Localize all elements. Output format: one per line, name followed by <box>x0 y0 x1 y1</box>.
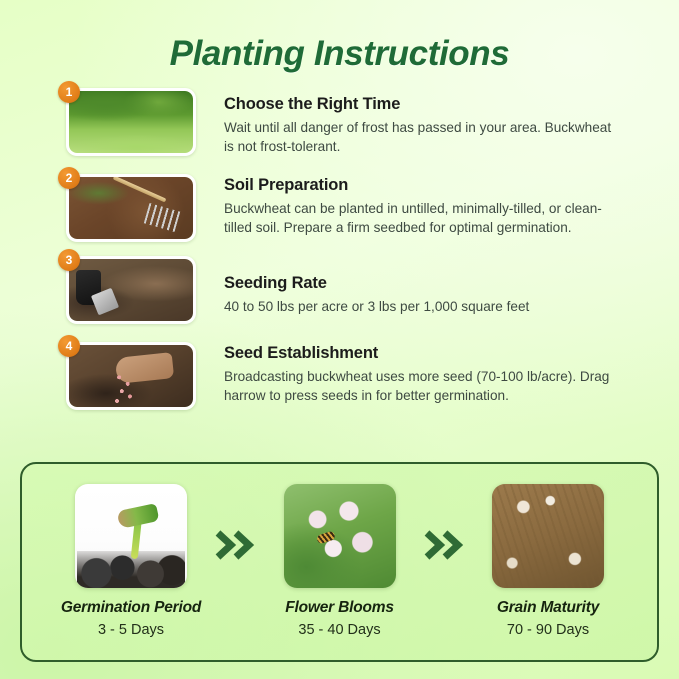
timeline-stage-days: 35 - 40 Days <box>265 621 415 640</box>
step-title: Seed Establishment <box>224 342 646 364</box>
timeline-stage-label: Flower Blooms <box>265 598 415 618</box>
step-thumbnail-wrapper: 1 <box>66 88 196 156</box>
step-item: 4 Seed Establishment Broadcasting buckwh… <box>66 342 646 410</box>
step-thumbnail <box>66 88 196 156</box>
buckwheat-flower-photo <box>284 484 396 588</box>
step-description: Wait until all danger of frost has passe… <box>224 118 624 156</box>
step-description: 40 to 50 lbs per acre or 3 lbs per 1,000… <box>224 297 624 316</box>
rake-handle-shape <box>113 175 167 202</box>
double-chevron-right-icon <box>421 530 467 560</box>
step-number-badge: 2 <box>58 167 80 189</box>
step-title: Seeding Rate <box>224 272 646 294</box>
timeline-stage: Grain Maturity 70 - 90 Days <box>473 484 623 640</box>
step-text-block: Choose the Right Time Wait until all dan… <box>224 88 646 156</box>
step-description: Buckwheat can be planted in untilled, mi… <box>224 199 624 237</box>
hand-broadcasting-seed-photo <box>69 345 193 407</box>
bee-shape <box>316 530 336 544</box>
step-thumbnail <box>66 342 196 410</box>
rake-head-shape <box>144 203 181 232</box>
falling-seeds-shape <box>111 372 138 404</box>
timeline-stage-label: Grain Maturity <box>473 598 623 618</box>
step-item: 1 Choose the Right Time Wait until all d… <box>66 88 646 156</box>
page-title: Planting Instructions <box>0 32 679 76</box>
infographic-page: Planting Instructions 1 Choose the Right… <box>0 0 679 679</box>
timeline-stage-label: Germination Period <box>56 598 206 618</box>
step-item: 2 Soil Preparation Buckwheat can be plan… <box>66 174 646 242</box>
step-thumbnail <box>66 256 196 324</box>
timeline-stage: Flower Blooms 35 - 40 Days <box>265 484 415 640</box>
mature-grain-photo <box>492 484 604 588</box>
seedling-sprout-photo <box>75 484 187 588</box>
timeline-stage-days: 70 - 90 Days <box>473 621 623 640</box>
double-chevron-right-icon <box>212 530 258 560</box>
step-thumbnail <box>66 174 196 242</box>
step-description: Broadcasting buckwheat uses more seed (7… <box>224 367 624 405</box>
step-text-block: Seeding Rate 40 to 50 lbs per acre or 3 … <box>224 256 646 316</box>
rake-on-soil-photo <box>69 177 193 239</box>
step-thumbnail-wrapper: 4 <box>66 342 196 410</box>
timeline-stage: Germination Period 3 - 5 Days <box>56 484 206 640</box>
step-title: Choose the Right Time <box>224 93 646 115</box>
step-title: Soil Preparation <box>224 174 646 196</box>
step-item: 3 Seeding Rate 40 to 50 lbs per acre or … <box>66 256 646 324</box>
growth-timeline-panel: Germination Period 3 - 5 Days Flower Blo… <box>20 462 659 662</box>
leaf-shape <box>116 503 159 529</box>
step-number-badge: 4 <box>58 335 80 357</box>
step-text-block: Seed Establishment Broadcasting buckwhea… <box>224 342 646 405</box>
step-thumbnail-wrapper: 3 <box>66 256 196 324</box>
step-number-badge: 3 <box>58 249 80 271</box>
tilling-soil-photo <box>69 259 193 321</box>
step-number-badge: 1 <box>58 81 80 103</box>
timeline-stage-days: 3 - 5 Days <box>56 621 206 640</box>
lawn-garden-photo <box>69 91 193 153</box>
step-text-block: Soil Preparation Buckwheat can be plante… <box>224 174 646 237</box>
steps-list: 1 Choose the Right Time Wait until all d… <box>66 88 646 410</box>
step-thumbnail-wrapper: 2 <box>66 174 196 242</box>
